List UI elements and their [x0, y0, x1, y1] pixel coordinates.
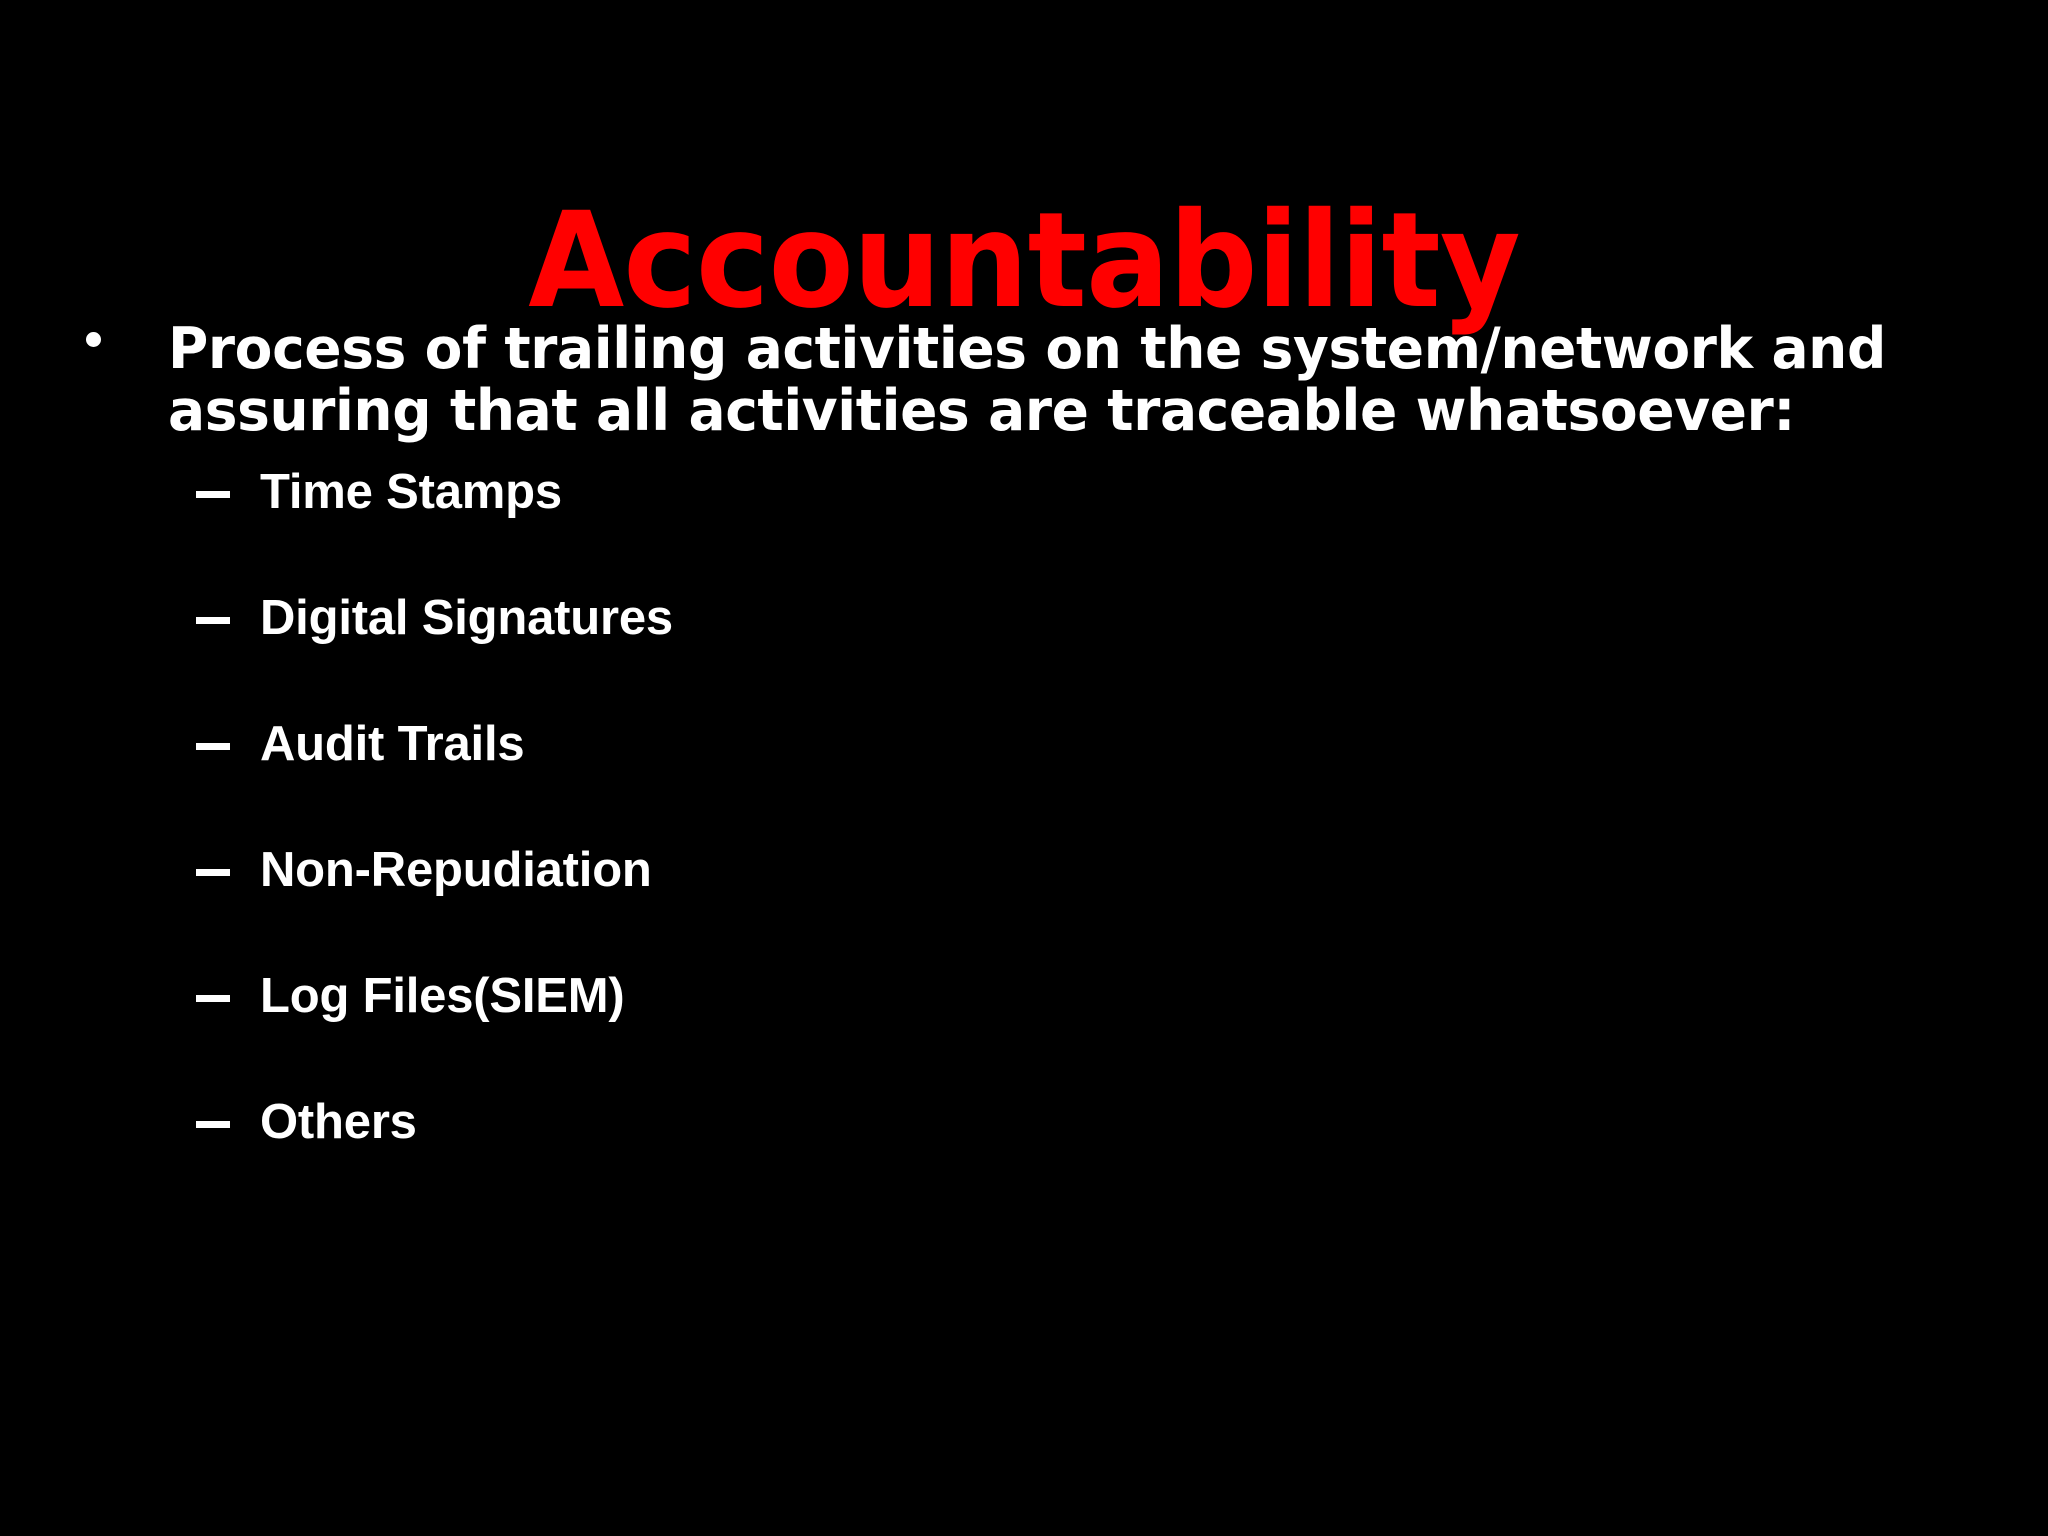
- sub-bullet-text: Digital Signatures: [260, 590, 673, 646]
- en-dash-icon: [196, 491, 230, 498]
- sub-bullet-text: Time Stamps: [260, 464, 562, 520]
- list-item: Time Stamps: [0, 464, 2048, 590]
- sub-bullet-text: Audit Trails: [260, 716, 524, 772]
- list-item: Others: [0, 1094, 2048, 1220]
- list-item: Audit Trails: [0, 716, 2048, 842]
- list-item: Non-Repudiation: [0, 842, 2048, 968]
- slide-body: Process of trailing activities on the sy…: [0, 318, 2048, 1198]
- en-dash-icon: [196, 869, 230, 876]
- page-title: Accountability: [61, 192, 1986, 332]
- sub-bullet-list: Time Stamps Digital Signatures Audit Tra…: [0, 464, 2048, 1220]
- list-item: Digital Signatures: [0, 590, 2048, 716]
- sub-bullet-text: Non-Repudiation: [260, 842, 652, 898]
- bullet-dot-icon: [86, 332, 101, 347]
- en-dash-icon: [196, 1121, 230, 1128]
- en-dash-icon: [196, 995, 230, 1002]
- en-dash-icon: [196, 617, 230, 624]
- presentation-slide: Accountability Process of trailing activ…: [0, 0, 2048, 1536]
- sub-bullet-text: Others: [260, 1094, 417, 1150]
- sub-bullet-text: Log Files(SIEM): [260, 968, 625, 1024]
- main-bullet-item: Process of trailing activities on the sy…: [0, 318, 2048, 442]
- list-item: Log Files(SIEM): [0, 968, 2048, 1094]
- main-bullet-text: Process of trailing activities on the sy…: [168, 318, 1934, 442]
- en-dash-icon: [196, 743, 230, 750]
